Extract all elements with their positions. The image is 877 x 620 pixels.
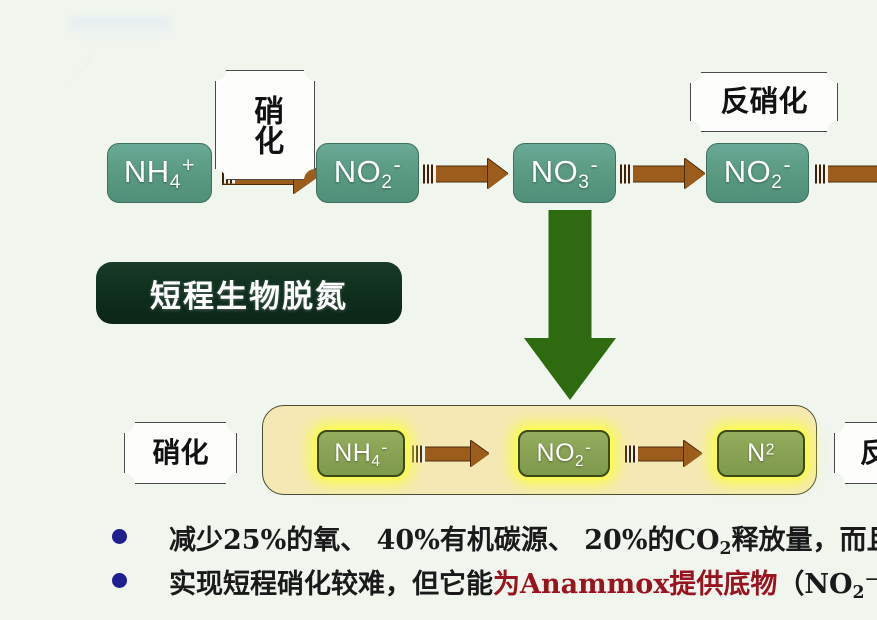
arrow-no3-to-no2-top: [620, 155, 710, 193]
callout-nitrification-top-label: 硝化: [250, 95, 281, 155]
node-no3-top-label: NO3-: [531, 152, 598, 194]
node-no2-top-label: NO2-: [334, 152, 401, 194]
title-banner: 短程生物脱氮: [96, 262, 402, 324]
node-no2-second-top: NO2-: [706, 143, 809, 203]
arrow-ticks: [412, 446, 425, 463]
arrow-ticks: [625, 446, 638, 463]
node-nh4-bottom-label: NH4-: [334, 437, 388, 471]
node-nh4-top-label: NH4+: [124, 152, 195, 194]
node-no3-top: NO3-: [513, 143, 616, 203]
node-no2-second-top-label: NO2-: [724, 152, 791, 194]
arrow-ticks: [620, 165, 633, 184]
arrow-head: [684, 441, 702, 467]
arrow-ticks: [815, 165, 828, 184]
callout-nitrification-bottom-label: 硝化: [152, 439, 208, 468]
bullet-dot: [112, 573, 127, 588]
big-arrow-head: [524, 338, 616, 400]
slide-canvas: 硝化 反硝化 NH4+ NO2- NO3-: [0, 0, 877, 620]
arrow-no2-to-n2-bottom: [625, 438, 710, 470]
arrow-head: [488, 159, 508, 189]
arrow-nh4-to-no2-bottom: [412, 438, 497, 470]
bullet-item-1: 减少25%的氧、 40%有机碳源、 20%的CO2释放量，而且: [112, 518, 877, 559]
node-n2-bottom-label: N2: [747, 439, 775, 468]
bullet-dot: [112, 529, 127, 544]
node-nh4-top: NH4+: [107, 143, 212, 203]
callout-denitrification-top: 反硝化: [690, 72, 838, 132]
title-banner-label: 短程生物脱氮: [150, 271, 348, 316]
arrow-outgoing-top-truncated: [815, 155, 877, 193]
arrow-head: [471, 441, 489, 467]
arrow-head: [685, 159, 705, 189]
node-n2-bottom: N2: [717, 430, 805, 477]
callout-denitrification-bottom-label: 反: [860, 439, 877, 468]
callout-denitrification-top-label: 反硝化: [720, 87, 807, 117]
node-nh4-bottom: NH4-: [317, 430, 405, 477]
scan-scratch: [67, 54, 95, 85]
arrow-ticks: [423, 165, 436, 184]
big-down-arrow: [520, 210, 620, 400]
node-no2-bottom: NO2-: [518, 430, 610, 477]
node-no2-top: NO2-: [316, 143, 419, 203]
arrow-no2-to-no3-top: [423, 155, 513, 193]
bullet-text-2: 实现短程硝化较难，但它能为Anammox提供底物（NO2⁻）: [169, 562, 877, 603]
big-arrow-shaft: [549, 210, 592, 340]
scan-smudge: [70, 17, 170, 35]
node-no2-bottom-label: NO2-: [537, 437, 592, 471]
bullet-item-2: 实现短程硝化较难，但它能为Anammox提供底物（NO2⁻）: [112, 562, 877, 603]
bullet-text-1: 减少25%的氧、 40%有机碳源、 20%的CO2释放量，而且: [169, 518, 877, 559]
callout-nitrification-bottom: 硝化: [124, 422, 237, 484]
callout-nitrification-top: 硝化: [215, 70, 315, 180]
callout-denitrification-bottom-truncated: 反: [834, 422, 877, 484]
